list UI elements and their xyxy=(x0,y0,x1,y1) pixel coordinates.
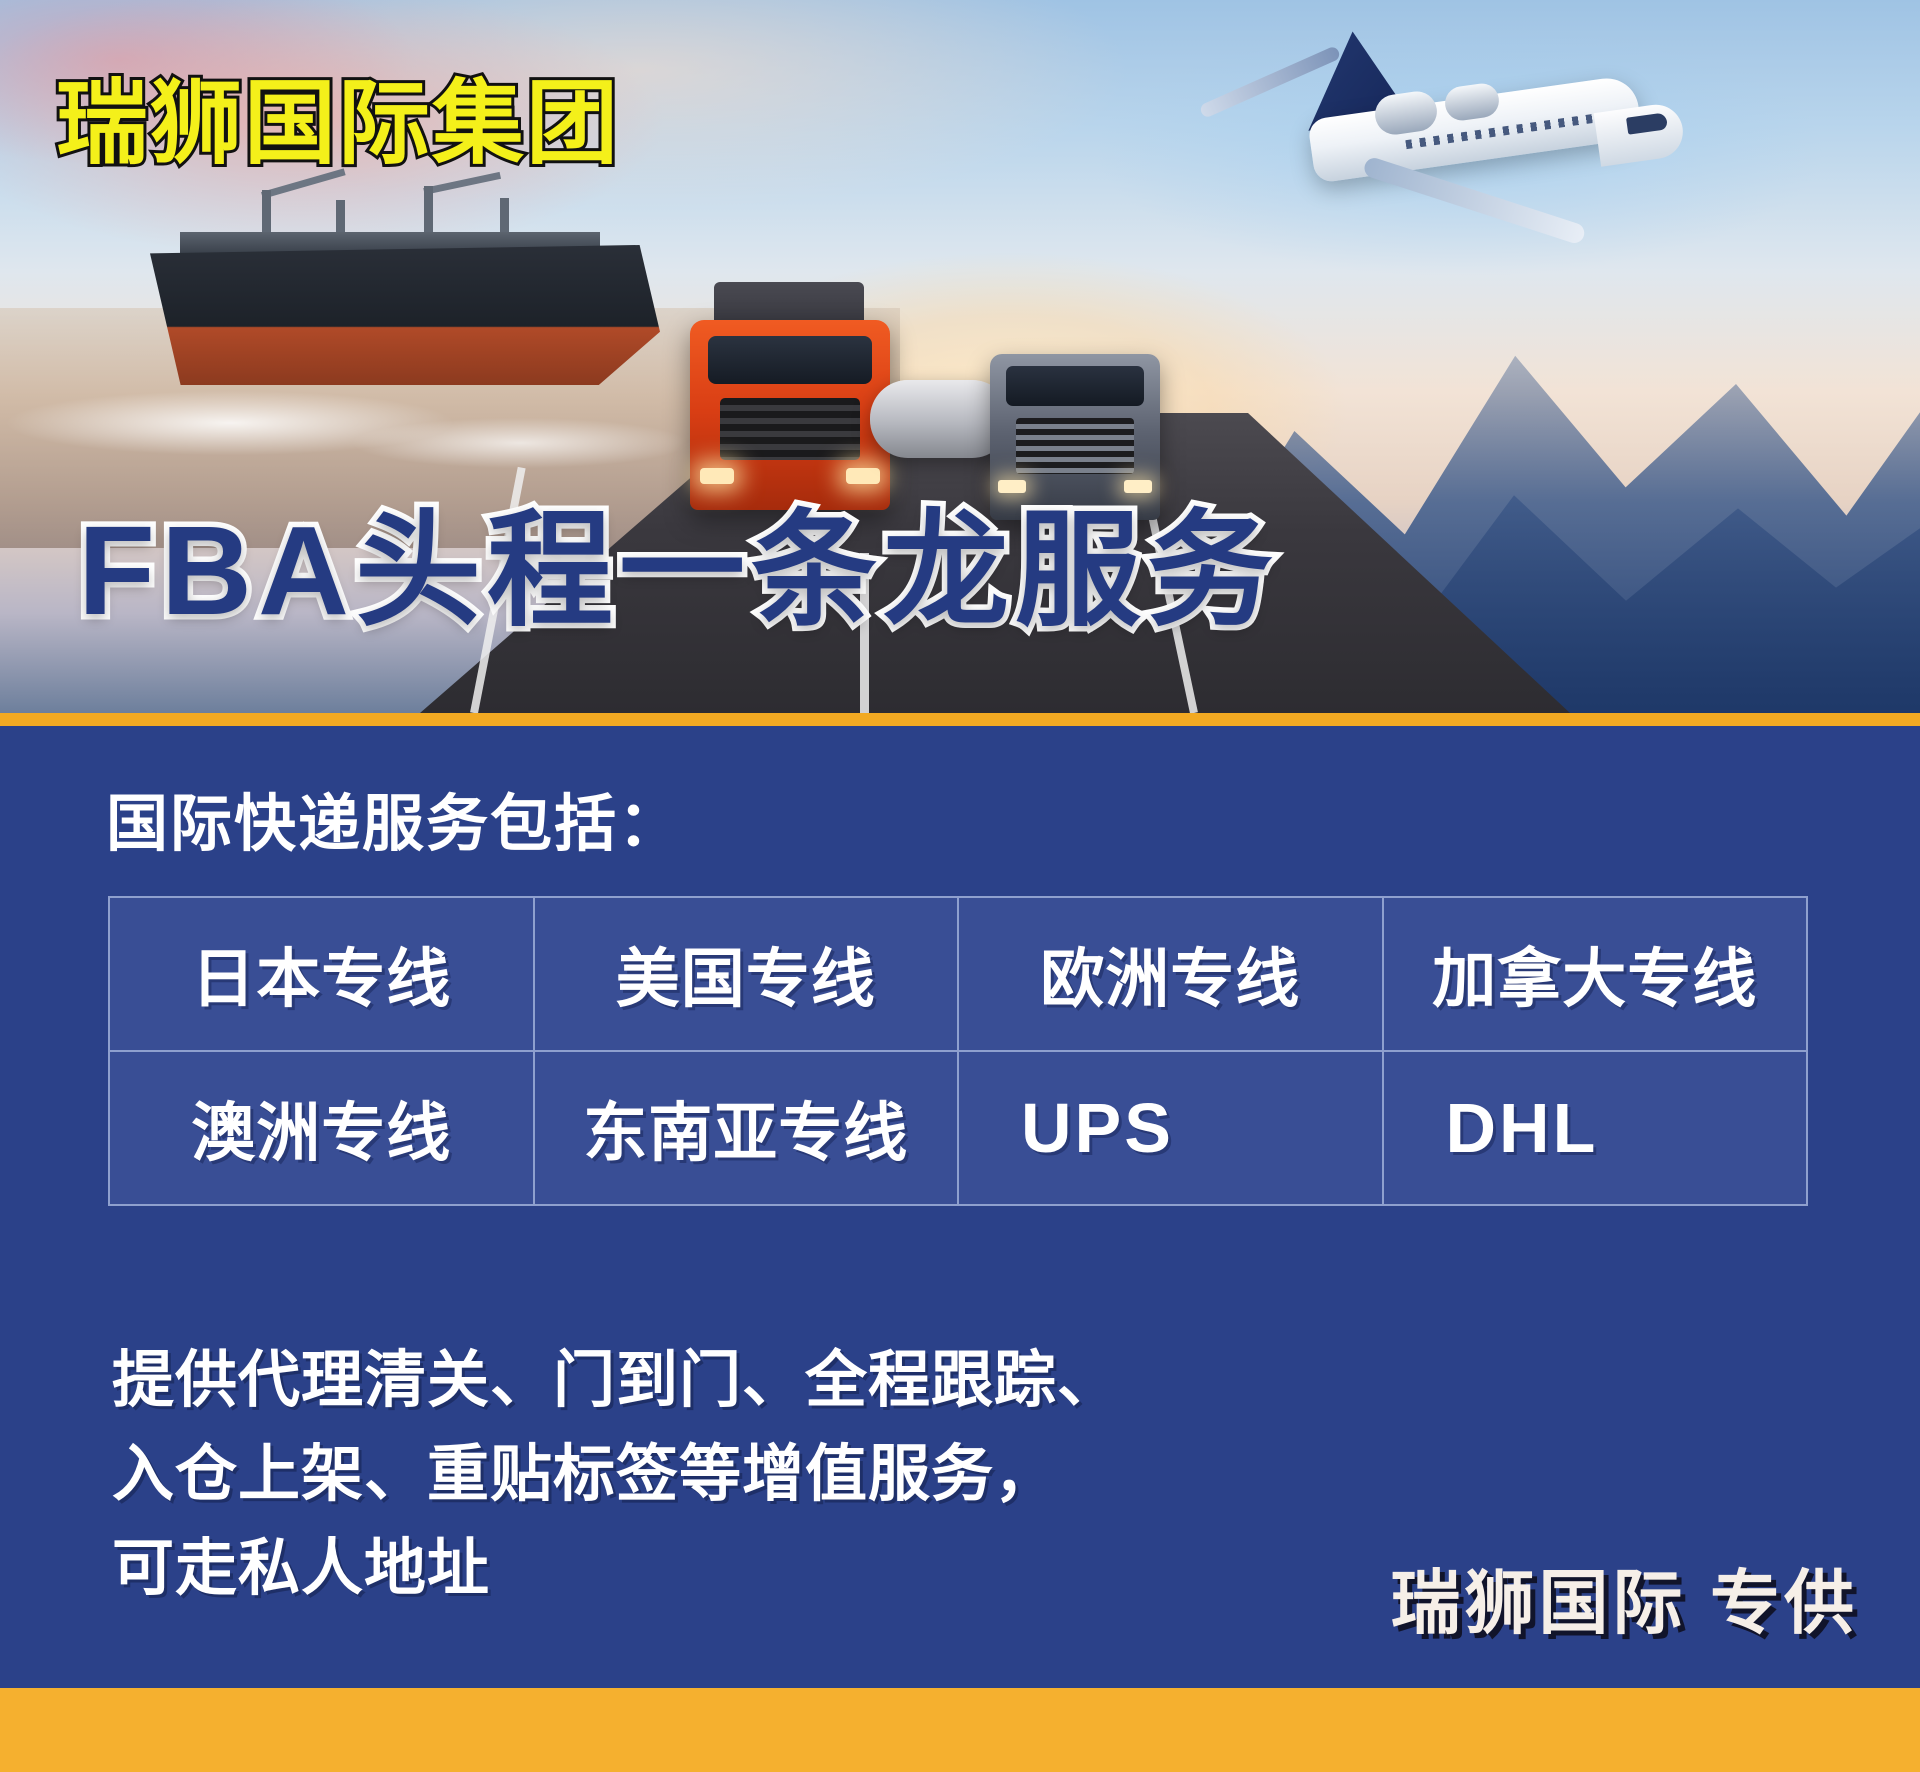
truck-headlight xyxy=(700,468,734,484)
bottom-orange-bar xyxy=(0,1688,1920,1772)
truck-headlight xyxy=(846,468,880,484)
service-cell-canada[interactable]: 加拿大专线 xyxy=(1383,897,1808,1051)
truck-grille xyxy=(1016,418,1134,474)
table-row: 澳洲专线 东南亚专线 UPS DHL xyxy=(109,1051,1807,1205)
hero-banner: 瑞狮国际集团 FBA头程一条龙服务 xyxy=(0,0,1920,713)
info-panel: 国际快递服务包括： 日本专线 美国专线 欧洲专线 加拿大专线 澳洲专线 东南亚专… xyxy=(0,726,1920,1688)
truck-grille xyxy=(720,398,860,460)
service-cell-japan[interactable]: 日本专线 xyxy=(109,897,534,1051)
paragraph-line-1: 提供代理清关、门到门、全程跟踪、 xyxy=(112,1334,1120,1428)
service-lines-table: 日本专线 美国专线 欧洲专线 加拿大专线 澳洲专线 东南亚专线 UPS DHL xyxy=(108,896,1808,1206)
tanker-trailer-icon xyxy=(870,380,1010,458)
truck-headlight xyxy=(998,480,1026,493)
airplane-icon xyxy=(1255,35,1675,245)
truck-windshield xyxy=(1006,366,1144,406)
service-cell-southeast-asia[interactable]: 东南亚专线 xyxy=(534,1051,959,1205)
service-cell-ups[interactable]: UPS xyxy=(958,1051,1383,1205)
company-logo-text: 瑞狮国际集团 xyxy=(56,78,620,170)
section-title: 国际快递服务包括： xyxy=(106,794,682,856)
truck-windshield xyxy=(708,336,872,384)
plane-nose xyxy=(1594,101,1687,166)
truck-headlight xyxy=(1124,480,1152,493)
service-cell-usa[interactable]: 美国专线 xyxy=(534,897,959,1051)
paragraph-line-3: 可走私人地址 xyxy=(112,1522,1120,1616)
table-row: 日本专线 美国专线 欧洲专线 加拿大专线 xyxy=(109,897,1807,1051)
hero-headline: FBA头程一条龙服务 xyxy=(78,508,1279,634)
plane-wing xyxy=(1362,155,1587,245)
service-cell-europe[interactable]: 欧洲专线 xyxy=(958,897,1383,1051)
service-cell-australia[interactable]: 澳洲专线 xyxy=(109,1051,534,1205)
footer-signature: 瑞狮国际 专供 xyxy=(1391,1568,1858,1638)
orange-divider-bar xyxy=(0,713,1920,726)
cargo-ship-icon xyxy=(150,245,660,385)
services-paragraph: 提供代理清关、门到门、全程跟踪、 入仓上架、重贴标签等增值服务， 可走私人地址 xyxy=(112,1334,1120,1617)
paragraph-line-2: 入仓上架、重贴标签等增值服务， xyxy=(112,1428,1120,1522)
poster-root: 瑞狮国际集团 FBA头程一条龙服务 国际快递服务包括： 日本专线 美国专线 欧洲… xyxy=(0,0,1920,1772)
service-cell-dhl[interactable]: DHL xyxy=(1383,1051,1808,1205)
